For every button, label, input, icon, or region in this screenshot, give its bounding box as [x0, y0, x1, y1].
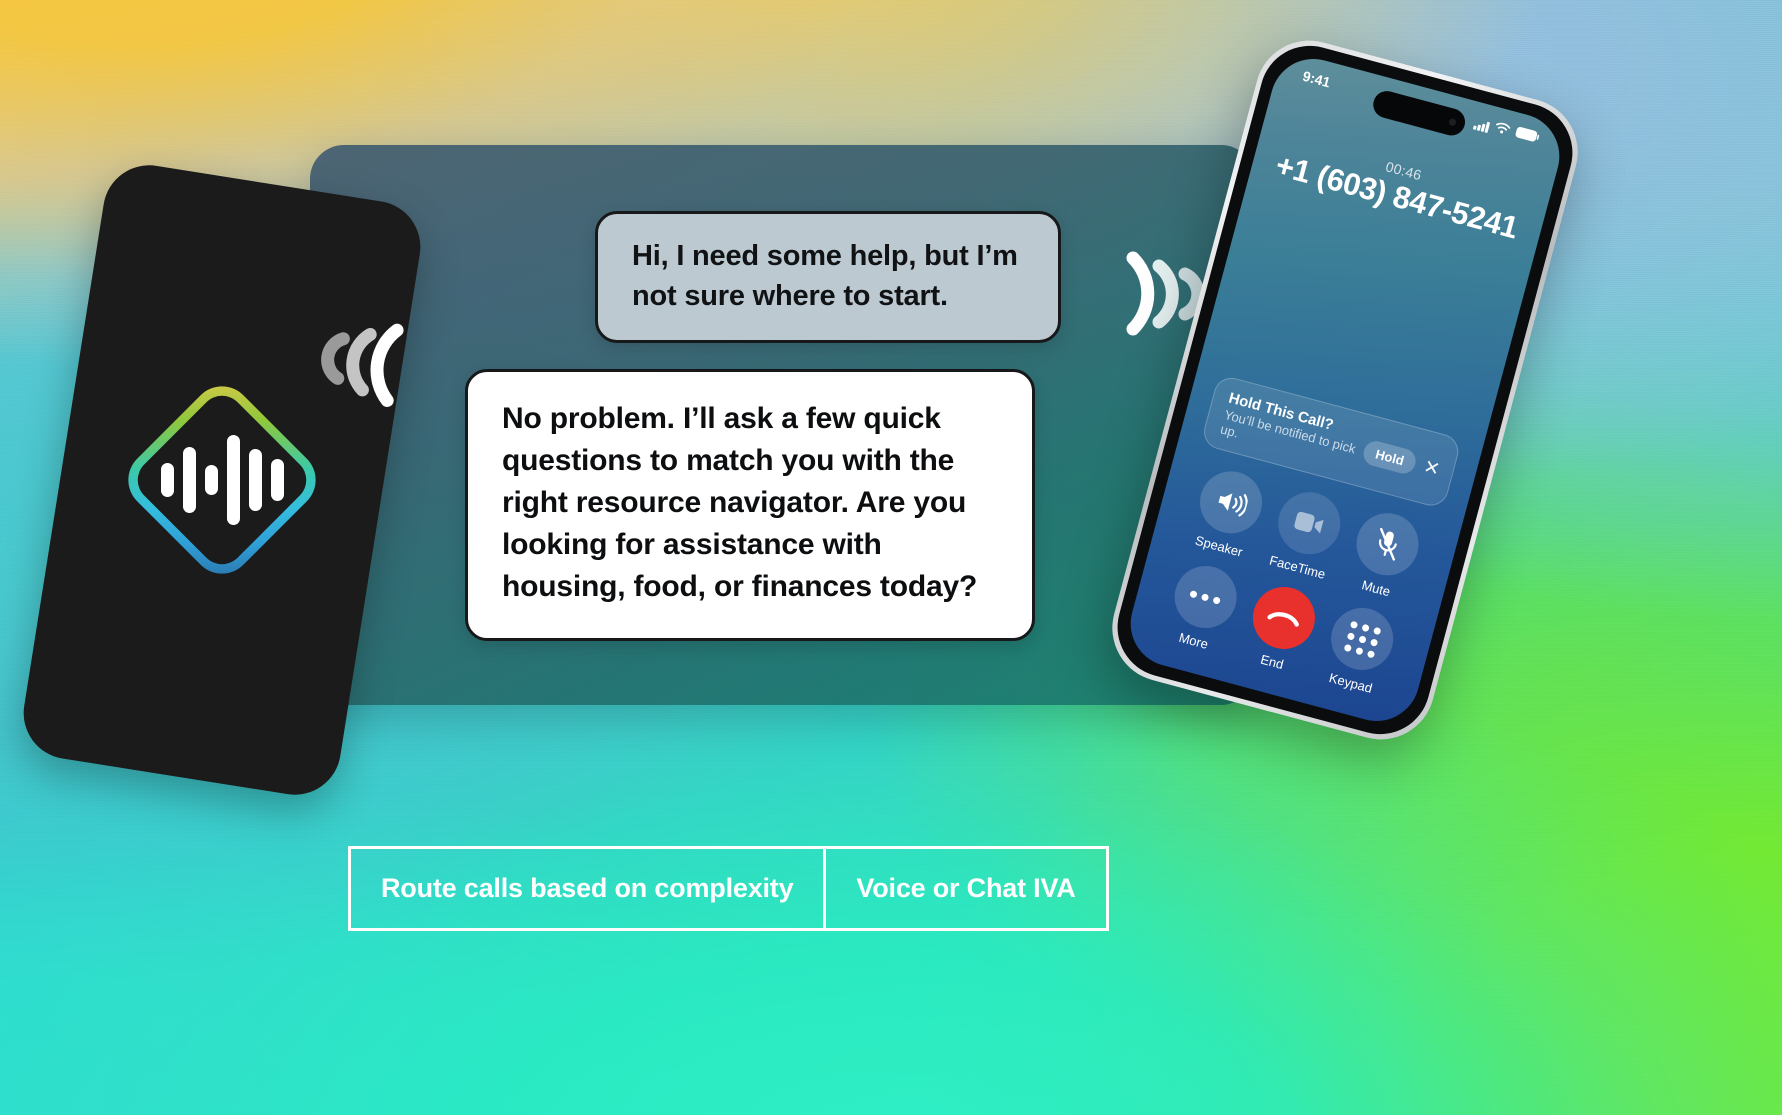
waveform-icon [161, 435, 284, 525]
feature-tag-row: Route calls based on complexity Voice or… [348, 846, 1109, 931]
end-call-icon [1246, 580, 1322, 656]
call-control-mute[interactable]: Mute [1344, 506, 1426, 603]
call-control-keypad[interactable]: Keypad [1319, 601, 1401, 698]
keypad-icon [1325, 601, 1401, 677]
call-controls-grid: Speaker FaceTime [1152, 462, 1435, 701]
battery-icon [1513, 125, 1540, 147]
sound-wave-arcs-left-icon [323, 290, 437, 413]
speaker-icon [1193, 464, 1269, 540]
call-control-more[interactable]: More [1162, 559, 1244, 656]
hold-button[interactable]: Hold [1361, 438, 1419, 476]
facetime-video-icon [1271, 485, 1347, 561]
more-ellipsis-icon [1167, 559, 1243, 635]
close-icon[interactable]: ✕ [1422, 457, 1442, 479]
feature-tag-route-calls[interactable]: Route calls based on complexity [348, 846, 826, 931]
chat-bubble-user-text: Hi, I need some help, but I’m not sure w… [632, 236, 1028, 316]
status-time: 9:41 [1301, 68, 1332, 91]
feature-tag-voice-or-chat-iva[interactable]: Voice or Chat IVA [823, 846, 1108, 931]
brand-logo [127, 385, 317, 575]
chat-bubble-user: Hi, I need some help, but I’m not sure w… [595, 211, 1061, 343]
call-header: 00:46 +1 (603) 847-5241 [1249, 125, 1549, 253]
call-control-label: Keypad [1327, 670, 1373, 696]
call-control-label: Mute [1360, 577, 1392, 599]
sound-wave-arcs-right-icon [1097, 222, 1197, 337]
chat-bubble-assistant: No problem. I’ll ask a few quick questio… [465, 369, 1035, 641]
call-control-label: More [1177, 630, 1209, 652]
call-control-end[interactable]: End [1240, 580, 1322, 677]
call-control-facetime[interactable]: FaceTime [1266, 485, 1348, 582]
call-control-label: FaceTime [1268, 553, 1327, 582]
wifi-icon [1493, 119, 1512, 138]
chat-bubble-assistant-text: No problem. I’ll ask a few quick questio… [502, 398, 1000, 608]
call-control-label: End [1259, 652, 1285, 672]
call-control-speaker[interactable]: Speaker [1187, 464, 1269, 561]
mute-microphone-icon [1350, 506, 1426, 582]
cellular-signal-icon [1473, 119, 1490, 133]
call-control-label: Speaker [1194, 533, 1245, 560]
dynamic-island [1370, 88, 1468, 138]
